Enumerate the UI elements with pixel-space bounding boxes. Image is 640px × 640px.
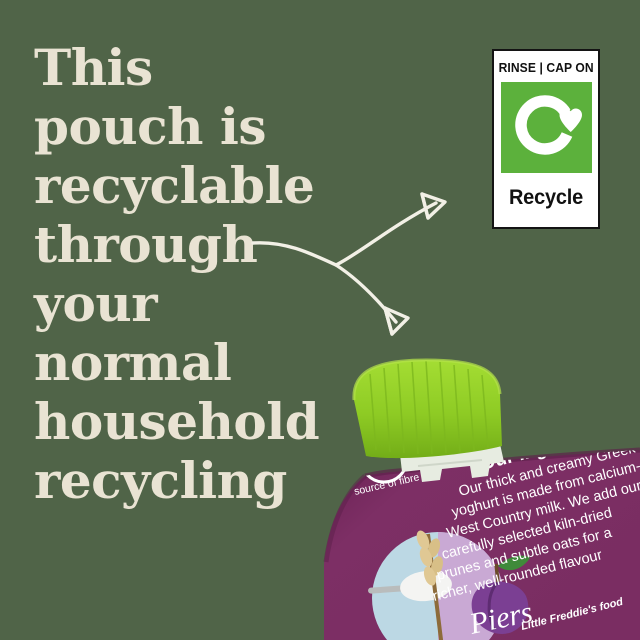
recycling-promo-image: This pouch is recyclable through your no… xyxy=(0,0,640,640)
yogurt-pouch: source of fibre source of calcium xyxy=(322,358,640,640)
recycle-symbol-box xyxy=(501,82,592,173)
rinse-cap-on-text: RINSE | CAP ON xyxy=(498,60,593,75)
page-title: This pouch is recyclable through your no… xyxy=(34,38,364,510)
arrow-head-down xyxy=(385,308,408,334)
pouch-cap xyxy=(354,360,502,458)
arrow-head-up xyxy=(422,194,445,218)
claim-fully-recyclable: fully recyclable xyxy=(516,367,582,433)
recycle-label: RINSE | CAP ON Recycle xyxy=(492,49,600,229)
claim-label-recyclable: fully recyclable xyxy=(516,388,582,433)
oprl-recycle-loop-icon xyxy=(501,82,592,173)
recycle-word-text: Recycle xyxy=(509,186,583,210)
